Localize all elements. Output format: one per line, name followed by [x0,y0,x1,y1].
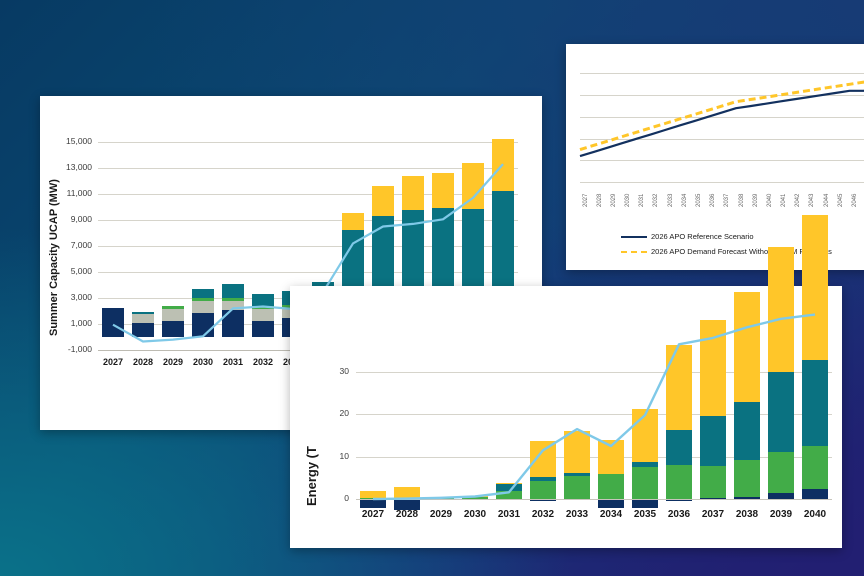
demand-legend-item-0: 2026 APO Reference Scenario [621,232,754,241]
demand-line-1 [580,80,864,150]
chart-card-energy: Energy (T 010203020272028202920302031203… [290,286,842,548]
legend-solid-line-icon [621,236,647,238]
demand-line-0 [580,89,864,157]
demand-legend-label-0: 2026 APO Reference Scenario [651,232,754,241]
demand-legend-item-1: 2026 APO Demand Forecast Without eDSM Pr… [621,247,832,256]
energy-total-line [290,286,842,548]
legend-dashed-line-icon [621,251,647,253]
